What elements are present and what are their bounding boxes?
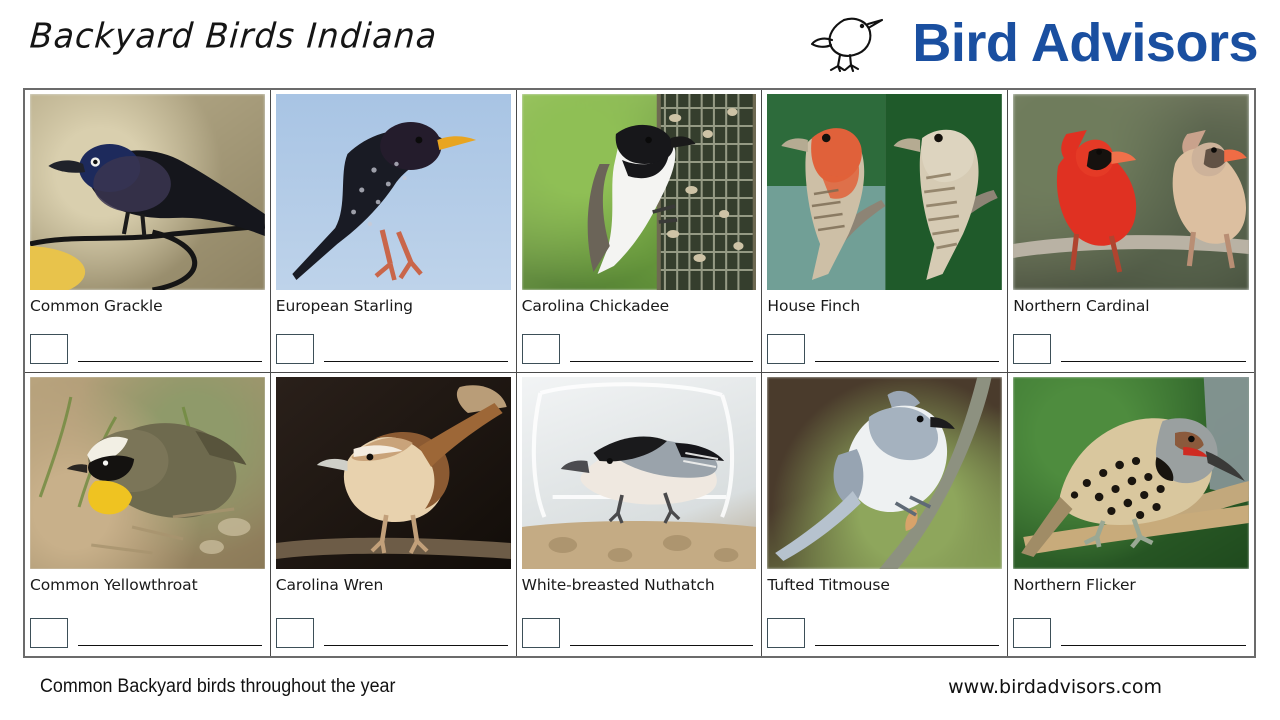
bird-card-northern-flicker[interactable]: Northern Flicker [1008, 373, 1254, 656]
bird-line-art-icon [810, 10, 898, 77]
write-in-line[interactable] [78, 361, 262, 362]
common-yellowthroat-photo [30, 377, 265, 569]
write-in-line[interactable] [815, 361, 999, 362]
write-in-line[interactable] [570, 361, 754, 362]
footer-note: Common Backyard birds throughout the yea… [40, 676, 395, 698]
white-breasted-nuthatch-photo [522, 377, 757, 569]
carolina-wren-photo [276, 377, 511, 569]
checkbox[interactable] [767, 334, 805, 364]
common-grackle-photo [30, 94, 265, 290]
checkbox[interactable] [276, 618, 314, 648]
bird-name-label: Tufted Titmouse [767, 576, 1002, 594]
carolina-chickadee-photo [522, 94, 757, 290]
checkbox[interactable] [522, 618, 560, 648]
bird-card-carolina-wren[interactable]: Carolina Wren [271, 373, 517, 656]
bird-card-european-starling[interactable]: European Starling [271, 90, 517, 373]
checkbox[interactable] [1013, 618, 1051, 648]
footer-url[interactable]: www.birdadvisors.com [948, 676, 1162, 698]
bird-card-common-yellowthroat[interactable]: Common Yellowthroat [25, 373, 271, 656]
house-finch-photo [767, 94, 1002, 290]
bird-name-label: Carolina Wren [276, 576, 511, 594]
card-answer-row [1013, 334, 1246, 364]
card-answer-row [767, 618, 999, 648]
checkbox[interactable] [30, 334, 68, 364]
bird-card-common-grackle[interactable]: Common Grackle [25, 90, 271, 373]
write-in-line[interactable] [324, 361, 508, 362]
bird-name-label: European Starling [276, 297, 511, 315]
write-in-line[interactable] [1061, 645, 1246, 646]
bird-name-label: Common Grackle [30, 297, 265, 315]
checkbox[interactable] [1013, 334, 1051, 364]
bird-name-label: Northern Cardinal [1013, 297, 1249, 315]
checkbox[interactable] [276, 334, 314, 364]
bird-card-house-finch[interactable]: House Finch [762, 90, 1008, 373]
page-footer: Common Backyard birds throughout the yea… [0, 662, 1280, 720]
card-answer-row [522, 618, 754, 648]
page-header: Backyard Birds Indiana Bird Advisors [0, 0, 1280, 88]
card-answer-row [30, 618, 262, 648]
tufted-titmouse-photo [767, 377, 1002, 569]
northern-cardinal-photo [1013, 94, 1249, 290]
page-title: Backyard Birds Indiana [29, 15, 439, 56]
bird-name-label: House Finch [767, 297, 1002, 315]
bird-name-label: Carolina Chickadee [522, 297, 757, 315]
card-answer-row [30, 334, 262, 364]
northern-flicker-photo [1013, 377, 1249, 569]
bird-card-tufted-titmouse[interactable]: Tufted Titmouse [762, 373, 1008, 656]
card-answer-row [276, 334, 508, 364]
bird-name-label: Northern Flicker [1013, 576, 1249, 594]
bird-card-northern-cardinal[interactable]: Northern Cardinal [1008, 90, 1254, 373]
european-starling-photo [276, 94, 511, 290]
write-in-line[interactable] [1061, 361, 1246, 362]
brand-logo: Bird Advisors [810, 6, 1258, 80]
write-in-line[interactable] [78, 645, 262, 646]
card-answer-row [522, 334, 754, 364]
write-in-line[interactable] [324, 645, 508, 646]
card-answer-row [767, 334, 999, 364]
bird-checklist-grid: Common Grackle Eur [23, 88, 1256, 658]
bird-card-white-breasted-nuthatch[interactable]: White-breasted Nuthatch [517, 373, 763, 656]
checkbox[interactable] [30, 618, 68, 648]
write-in-line[interactable] [570, 645, 754, 646]
card-answer-row [276, 618, 508, 648]
bird-name-label: Common Yellowthroat [30, 576, 265, 594]
card-answer-row [1013, 618, 1246, 648]
checkbox[interactable] [767, 618, 805, 648]
bird-name-label: White-breasted Nuthatch [522, 576, 757, 594]
bird-card-carolina-chickadee[interactable]: Carolina Chickadee [517, 90, 763, 373]
brand-name: Bird Advisors [912, 16, 1258, 70]
checkbox[interactable] [522, 334, 560, 364]
write-in-line[interactable] [815, 645, 999, 646]
